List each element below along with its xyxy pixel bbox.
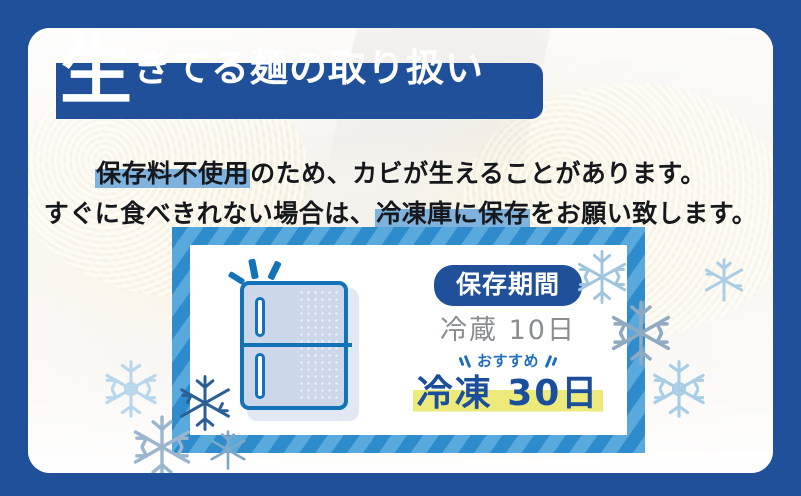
sparkle-icon-1 [228, 271, 246, 285]
recommend-tick-right-1 [545, 355, 553, 368]
refrigerator-body [240, 281, 348, 410]
page-title-kanji: 生 [60, 36, 132, 108]
copy-line-1-rest: のため、カビが生えることがあります。 [250, 159, 706, 188]
recommend-tick-left-1 [464, 355, 472, 368]
white-card: 生 きてる麺の取り扱い 保存料不使用のため、カビが生えることがあります。 すぐに… [28, 28, 773, 473]
recommend-label-text: おすすめ [477, 352, 539, 370]
frozen-storage-highlight: 冷凍 30日 [413, 373, 604, 414]
copy-line-1-highlight: 保存料不使用 [95, 159, 250, 188]
recommend-tick-right-2 [551, 357, 557, 366]
snowflake-icon-right-3 [648, 358, 710, 420]
copy-line-1: 保存料不使用のため、カビが生えることがあります。 [28, 156, 773, 192]
snowflake-icon-left-1 [100, 358, 162, 420]
refrigerator-icon [240, 281, 360, 421]
panel-inner: 保存期間 冷蔵 10日 おすすめ 冷凍 30日 [190, 245, 627, 435]
body-copy: 保存料不使用のため、カビが生えることがあります。 すぐに食べきれない場合は、冷凍… [28, 156, 773, 236]
snowflake-icon-panel-bottom [206, 428, 250, 472]
recommend-label: おすすめ [477, 353, 539, 370]
copy-line-2-prefix: すぐに食べきれない場合は、 [44, 199, 376, 228]
refrigerator-divider [244, 343, 352, 347]
frozen-storage-row: 冷凍 30日 [408, 373, 608, 415]
snowflake-icon-right-4 [700, 256, 748, 304]
sparkle-icon-2 [248, 259, 259, 280]
copy-line-2-highlight: 冷凍庫に保存 [375, 199, 530, 228]
copy-line-2-rest: をお願い致します。 [530, 199, 757, 228]
page-title-rest: きてる麺の取り扱い [133, 49, 484, 87]
storage-period-badge: 保存期間 [434, 265, 582, 306]
recommend-label-wrap: おすすめ [408, 353, 608, 374]
poster-stage: 生 きてる麺の取り扱い 保存料不使用のため、カビが生えることがあります。 すぐに… [0, 0, 801, 496]
snowflake-icon-panel-edge [175, 373, 235, 433]
refrigerator-handle-top [255, 297, 265, 337]
sparkle-icon-3 [267, 260, 282, 280]
chilled-storage-row: 冷蔵 10日 [408, 315, 608, 347]
refrigerator-handle-bottom [255, 353, 265, 399]
